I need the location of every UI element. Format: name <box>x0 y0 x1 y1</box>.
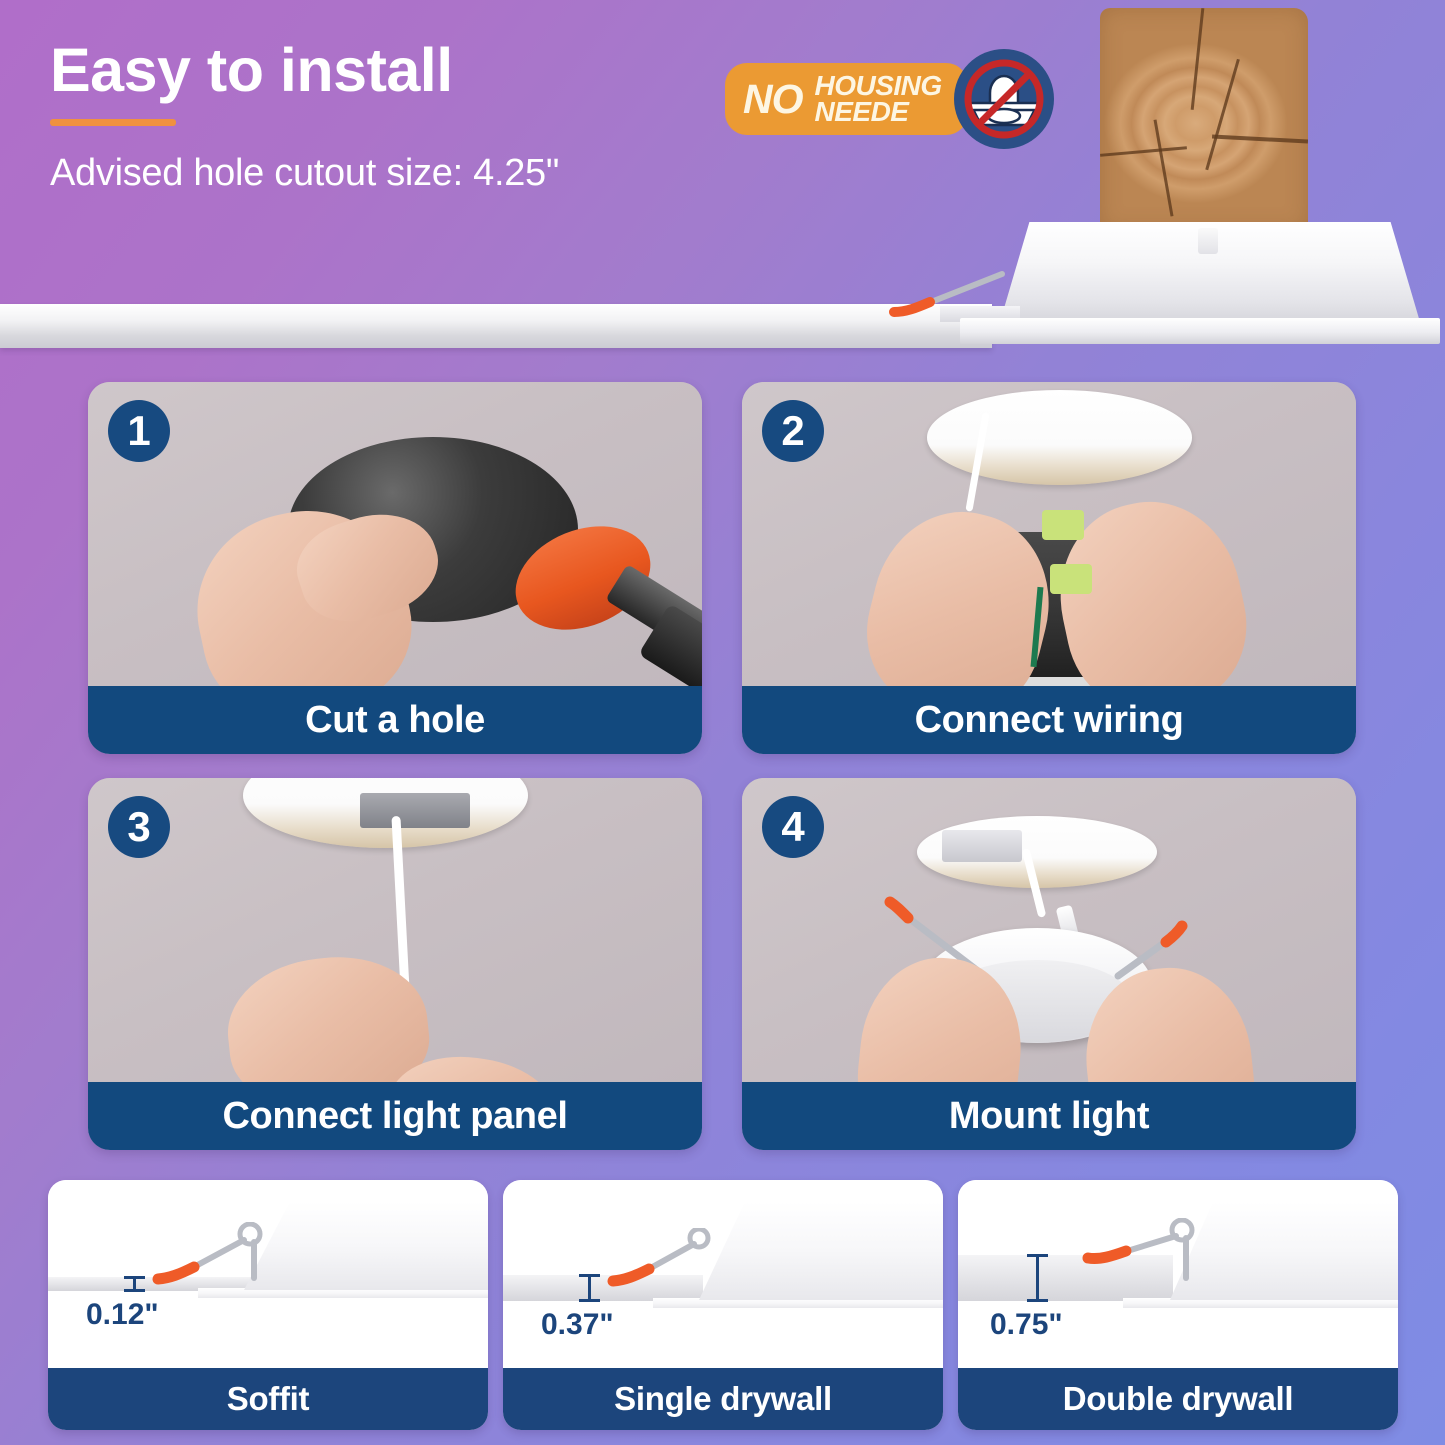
fixture-flange <box>960 318 1440 344</box>
no-housing-needed-badge: NO HOUSING NEEDE <box>725 47 1056 151</box>
step-caption-4: Mount light <box>742 1082 1356 1150</box>
step-card-3[interactable]: 3 Connect light panel <box>88 778 702 1150</box>
dimension-label: 0.12" <box>86 1298 159 1332</box>
step-number-badge-2: 2 <box>762 400 824 462</box>
wire-nut-upper <box>1042 510 1084 540</box>
junction-box-nub <box>1198 228 1218 254</box>
dimension-label: 0.75" <box>990 1308 1063 1342</box>
fixture-body <box>699 1202 943 1300</box>
step-caption-3: Connect light panel <box>88 1082 702 1150</box>
thickness-panel-double-drywall[interactable]: 0.75" Double drywall <box>958 1180 1398 1430</box>
diagram-soffit-thickness: 0.12" <box>48 1180 488 1368</box>
recessed-light-junction-box <box>940 222 1445 362</box>
title-underline-rule <box>50 119 176 126</box>
thickness-panel-single-drywall[interactable]: 0.37" Single drywall <box>503 1180 943 1430</box>
spring-clip-icon <box>1076 1218 1206 1290</box>
page-title: Easy to install <box>50 38 750 102</box>
dim-tick-vertical <box>588 1275 591 1301</box>
wire-nut-lower <box>1050 564 1092 594</box>
step-card-1[interactable]: 1 Cut a hole <box>88 382 702 754</box>
badge-no-text: NO <box>743 76 803 123</box>
step-number-badge-3: 3 <box>108 796 170 858</box>
badge-pill: NO HOUSING NEEDE <box>725 63 968 135</box>
step-card-4[interactable]: 4 Mount light <box>742 778 1356 1150</box>
step-card-2[interactable]: 2 Connect wiring <box>742 382 1356 754</box>
dimension-label: 0.37" <box>541 1308 614 1342</box>
panel-caption-soffit: Soffit <box>48 1368 488 1430</box>
photo-connect-wiring <box>742 382 1356 686</box>
step-number-badge-1: 1 <box>108 400 170 462</box>
panel-driver-box <box>942 830 1022 862</box>
wood-joist-block <box>1100 8 1308 230</box>
diagram-single-drywall-thickness: 0.37" <box>503 1180 943 1368</box>
panel-driver-box <box>360 793 470 828</box>
header-block: Easy to install Advised hole cutout size… <box>50 38 750 195</box>
dim-tick-bottom <box>124 1289 145 1292</box>
thickness-panel-soffit[interactable]: 0.12" Soffit <box>48 1180 488 1430</box>
dim-tick-vertical <box>1036 1255 1039 1301</box>
spring-clip-icon <box>880 270 1010 318</box>
badge-line-2: NEEDE <box>815 99 942 125</box>
ceiling-plane <box>0 304 992 348</box>
spring-clip-icon <box>599 1228 719 1288</box>
step-number-badge-4: 4 <box>762 796 824 858</box>
panel-caption-single-drywall: Single drywall <box>503 1368 943 1430</box>
step-caption-1: Cut a hole <box>88 686 702 754</box>
step-caption-2: Connect wiring <box>742 686 1356 754</box>
photo-cut-a-hole <box>88 382 702 686</box>
photo-mount-light <box>742 778 1356 1082</box>
panel-caption-double-drywall: Double drywall <box>958 1368 1398 1430</box>
cutout-size-subtitle: Advised hole cutout size: 4.25" <box>50 152 750 195</box>
dim-tick-top <box>1027 1254 1048 1257</box>
photo-connect-light-panel <box>88 778 702 1082</box>
no-housing-can-icon <box>952 47 1056 151</box>
fixture-body <box>244 1202 488 1290</box>
dim-tick-bottom <box>579 1299 600 1302</box>
dim-tick-top <box>124 1276 145 1279</box>
spring-clip-icon <box>144 1222 274 1292</box>
dim-tick-bottom <box>1027 1299 1048 1302</box>
badge-text-lines: HOUSING NEEDE <box>815 73 942 125</box>
ceiling-panel-round <box>927 390 1192 485</box>
diagram-double-drywall-thickness: 0.75" <box>958 1180 1398 1368</box>
dim-tick-top <box>579 1274 600 1277</box>
